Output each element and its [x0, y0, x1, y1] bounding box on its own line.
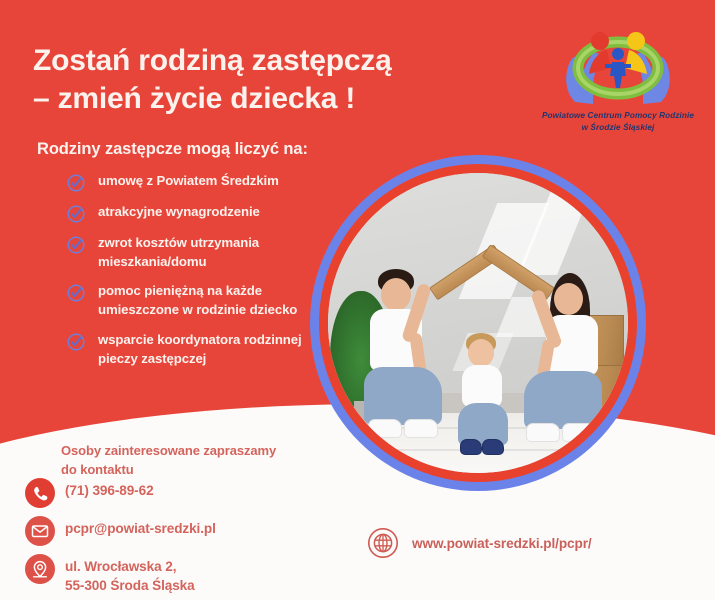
location-pin-icon: [25, 554, 55, 584]
shoe: [460, 439, 482, 455]
phone-value: (71) 396-89-62: [65, 478, 154, 501]
shoe: [404, 419, 438, 438]
headline-line-1: Zostań rodziną zastępczą: [33, 44, 392, 77]
address-value: ul. Wrocławska 2, 55-300 Środa Śląska: [65, 554, 195, 596]
check-circle-icon: [67, 236, 85, 254]
photo-ring-inner-red: [319, 164, 637, 482]
legs: [524, 371, 602, 429]
address-line-2: 55-300 Środa Śląska: [65, 577, 195, 596]
envelope-icon: [25, 516, 55, 546]
organization-logo: Powiatowe Centrum Pomocy Rodzinie w Środ…: [522, 16, 714, 133]
benefit-label: wsparcie koordynatora rodzinnej pieczy z…: [98, 331, 329, 368]
pcpr-emblem-icon: [553, 16, 683, 108]
photo-ring-outer-blue: [310, 155, 646, 491]
contact-row-phone[interactable]: (71) 396-89-62: [25, 478, 345, 508]
headline-line-2: – zmień życie dziecka !: [33, 80, 543, 118]
benefit-label: zwrot kosztów utrzymania mieszkania/domu: [98, 234, 329, 271]
contact-row-address: ul. Wrocławska 2, 55-300 Środa Śląska: [25, 554, 345, 596]
logo-text-line-1: Powiatowe Centrum Pomocy Rodzinie: [522, 110, 714, 122]
check-circle-icon: [67, 174, 85, 192]
shoe: [482, 439, 504, 455]
website-value: www.powiat-sredzki.pl/pcpr/: [412, 536, 592, 551]
benefit-label: umowę z Powiatem Średzkim: [98, 172, 279, 191]
contact-intro-line-1: Osoby zainteresowane zapraszamy: [61, 442, 341, 461]
list-item: pomoc pieniężną na każde umieszczone w r…: [67, 282, 329, 319]
family-scene-illustration: [328, 173, 628, 473]
poster-canvas: Zostań rodziną zastępczą – zmień życie d…: [0, 0, 715, 600]
list-item: atrakcyjne wynagrodzenie: [67, 203, 329, 223]
benefit-label: pomoc pieniężną na każde umieszczone w r…: [98, 282, 329, 319]
person-mother: [510, 273, 610, 457]
check-circle-icon: [67, 284, 85, 302]
contact-intro-line-2: do kontaktu: [61, 461, 341, 480]
list-item: umowę z Powiatem Średzkim: [67, 172, 329, 192]
shoe: [368, 419, 402, 438]
website-row[interactable]: www.powiat-sredzki.pl/pcpr/: [368, 528, 592, 558]
benefits-list: umowę z Powiatem Średzkim atrakcyjne wyn…: [67, 172, 329, 379]
head: [468, 339, 494, 367]
contact-intro: Osoby zainteresowane zapraszamy do konta…: [61, 442, 341, 480]
check-circle-icon: [67, 205, 85, 223]
torso: [462, 365, 502, 407]
check-circle-icon: [67, 333, 85, 351]
logo-text: Powiatowe Centrum Pomocy Rodzinie w Środ…: [522, 110, 714, 133]
logo-mark: [553, 16, 683, 108]
contact-list: (71) 396-89-62 pcpr@powiat-sredzki.pl: [25, 478, 345, 600]
head: [381, 278, 411, 311]
shoe: [526, 423, 560, 442]
address-line-1: ul. Wrocławska 2,: [65, 558, 195, 577]
list-item: zwrot kosztów utrzymania mieszkania/domu: [67, 234, 329, 271]
head: [554, 283, 583, 315]
page-title: Zostań rodziną zastępczą – zmień życie d…: [33, 42, 543, 119]
list-item: wsparcie koordynatora rodzinnej pieczy z…: [67, 331, 329, 368]
benefits-subheading: Rodziny zastępcze mogą liczyć na:: [37, 140, 308, 159]
globe-icon: [368, 528, 398, 558]
family-photo: [328, 173, 628, 473]
person-child: [454, 333, 516, 459]
person-father: [362, 269, 458, 455]
legs: [364, 367, 442, 425]
logo-text-line-2: w Środzie Śląskiej: [522, 122, 714, 134]
email-value: pcpr@powiat-sredzki.pl: [65, 516, 216, 539]
contact-row-email[interactable]: pcpr@powiat-sredzki.pl: [25, 516, 345, 546]
benefit-label: atrakcyjne wynagrodzenie: [98, 203, 260, 222]
phone-icon: [25, 478, 55, 508]
shoe: [562, 423, 596, 442]
